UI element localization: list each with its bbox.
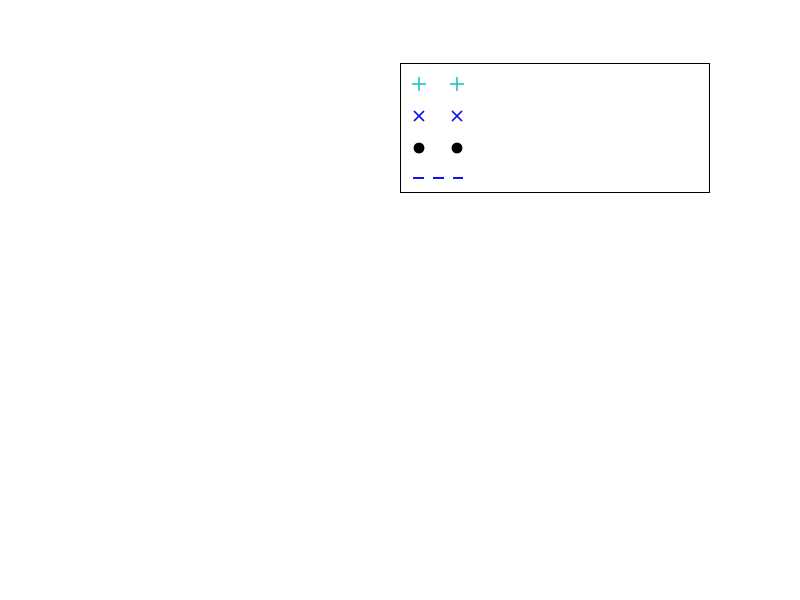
dashed-line-icon	[401, 162, 475, 194]
plus-icon	[401, 68, 475, 100]
legend-item-psf-like	[401, 132, 709, 164]
legend-item-rough-fwhm	[401, 100, 709, 132]
circle-icon	[401, 132, 475, 164]
chart-legend	[400, 63, 710, 193]
figure-container	[0, 0, 800, 600]
cross-icon	[401, 100, 475, 132]
legend-item-all-sample	[401, 68, 709, 100]
legend-item-tentative-fwhm	[401, 162, 709, 194]
